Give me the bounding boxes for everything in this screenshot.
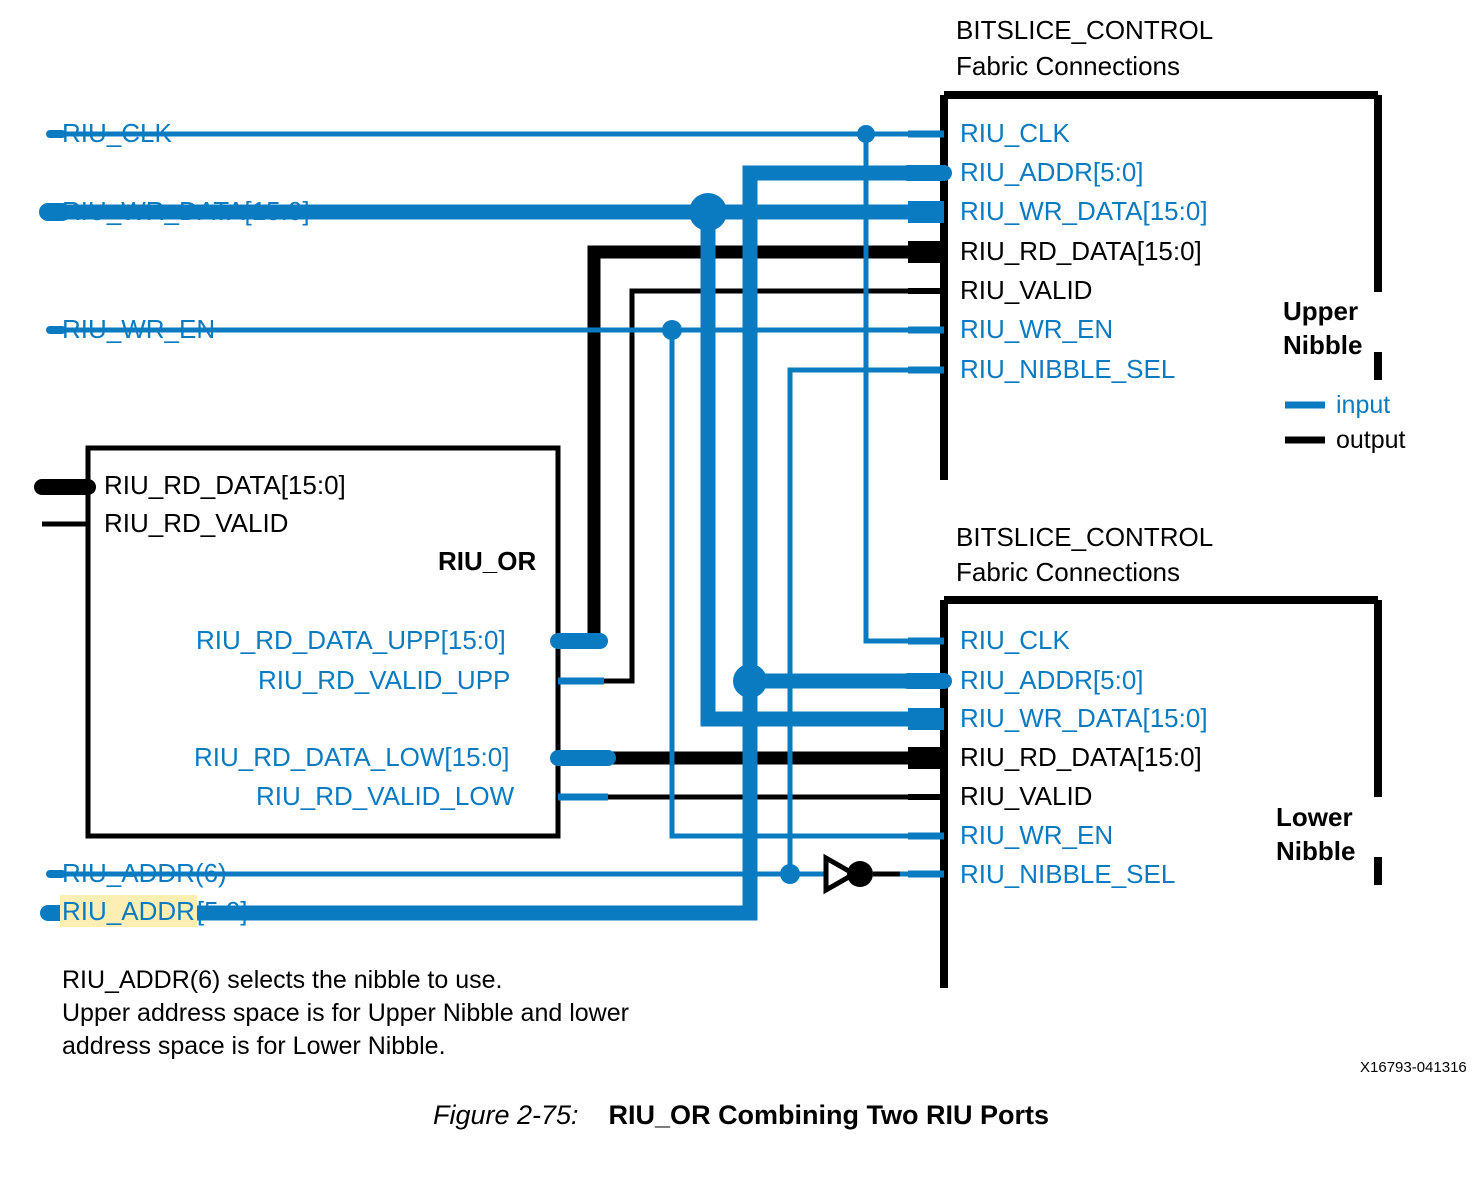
lower-port-riu-nibble-sel: RIU_NIBBLE_SEL bbox=[960, 861, 1175, 887]
upper-port-riu-clk: RIU_CLK bbox=[960, 120, 1070, 146]
source-label-riu-wr-en: RIU_WR_EN bbox=[62, 316, 215, 342]
lower-port-riu-addr: RIU_ADDR[5:0] bbox=[960, 667, 1144, 693]
junction-dot-addr-bus bbox=[733, 664, 767, 698]
upper-nibble-label-line1: Upper bbox=[1283, 298, 1358, 324]
legend-output-label: output bbox=[1336, 428, 1406, 453]
figure-id: X16793-041316 bbox=[1360, 1059, 1467, 1076]
lower-bitslice-port-stubs bbox=[908, 641, 944, 874]
lower-nibble-label-line2: Nibble bbox=[1276, 838, 1355, 864]
upper-port-riu-nibble-sel: RIU_NIBBLE_SEL bbox=[960, 356, 1175, 382]
lower-bitslice-title-line1: BITSLICE_CONTROL bbox=[956, 524, 1213, 550]
riu-or-port-rd-valid-low: RIU_RD_VALID_LOW bbox=[256, 783, 514, 809]
junction-dot-clk bbox=[857, 125, 875, 143]
figure-canvas: RIU_CLK RIU_WR_DATA[15:0] RIU_WR_EN RIU_… bbox=[0, 0, 1482, 1182]
figure-caption: Figure 2-75: RIU_OR Combining Two RIU Po… bbox=[0, 1100, 1482, 1131]
inverter-icon bbox=[826, 858, 900, 890]
upper-port-riu-addr: RIU_ADDR[5:0] bbox=[960, 159, 1144, 185]
source-label-riu-addr-highlight: RIU_ADDR bbox=[60, 895, 197, 927]
upper-port-riu-valid: RIU_VALID bbox=[960, 277, 1092, 303]
upper-bitslice-title-line2: Fabric Connections bbox=[956, 53, 1180, 79]
riu-or-port-rd-data-upp: RIU_RD_DATA_UPP[15:0] bbox=[196, 627, 506, 653]
upper-bitslice-port-stubs bbox=[908, 134, 944, 370]
upper-port-riu-wr-data: RIU_WR_DATA[15:0] bbox=[960, 198, 1208, 224]
lower-port-riu-rd-data: RIU_RD_DATA[15:0] bbox=[960, 744, 1202, 770]
junction-dot-wr-data bbox=[689, 193, 727, 231]
lower-port-riu-valid: RIU_VALID bbox=[960, 783, 1092, 809]
figure-title: RIU_OR Combining Two RIU Ports bbox=[609, 1100, 1050, 1130]
figure-number: Figure 2-75: bbox=[433, 1100, 579, 1130]
riu-or-block-name: RIU_OR bbox=[438, 548, 536, 574]
note-line-3: address space is for Lower Nibble. bbox=[62, 1034, 446, 1059]
legend-input-label: input bbox=[1336, 393, 1390, 418]
junction-dot-wr-en bbox=[662, 320, 682, 340]
source-label-riu-addr-bus: RIU_ADDR[5:0] bbox=[60, 898, 248, 924]
lower-bitslice-title-line2: Fabric Connections bbox=[956, 559, 1180, 585]
junction-dot-addr6 bbox=[780, 864, 800, 884]
upper-port-riu-rd-data: RIU_RD_DATA[15:0] bbox=[960, 238, 1202, 264]
upper-bitslice-title-line1: BITSLICE_CONTROL bbox=[956, 17, 1213, 43]
source-label-riu-clk: RIU_CLK bbox=[62, 120, 172, 146]
note-line-2: Upper address space is for Upper Nibble … bbox=[62, 1001, 629, 1026]
upper-port-riu-wr-en: RIU_WR_EN bbox=[960, 316, 1113, 342]
note-line-1: RIU_ADDR(6) selects the nibble to use. bbox=[62, 968, 502, 993]
source-label-riu-addr6: RIU_ADDR(6) bbox=[62, 860, 227, 886]
lower-port-riu-clk: RIU_CLK bbox=[960, 627, 1070, 653]
lower-port-riu-wr-data: RIU_WR_DATA[15:0] bbox=[960, 705, 1208, 731]
lower-nibble-label-line1: Lower bbox=[1276, 804, 1353, 830]
legend-swatches bbox=[1285, 405, 1325, 440]
source-label-riu-wr-data: RIU_WR_DATA[15:0] bbox=[62, 198, 310, 224]
riu-or-port-rd-data: RIU_RD_DATA[15:0] bbox=[104, 472, 346, 498]
riu-or-port-rd-data-low: RIU_RD_DATA_LOW[15:0] bbox=[194, 744, 509, 770]
lower-port-riu-wr-en: RIU_WR_EN bbox=[960, 822, 1113, 848]
source-label-riu-addr-tail: [5:0] bbox=[197, 896, 248, 926]
riu-or-port-rd-valid: RIU_RD_VALID bbox=[104, 510, 288, 536]
riu-or-port-stubs bbox=[558, 641, 608, 797]
riu-or-port-rd-valid-upp: RIU_RD_VALID_UPP bbox=[258, 667, 510, 693]
upper-nibble-label-line2: Nibble bbox=[1283, 332, 1362, 358]
